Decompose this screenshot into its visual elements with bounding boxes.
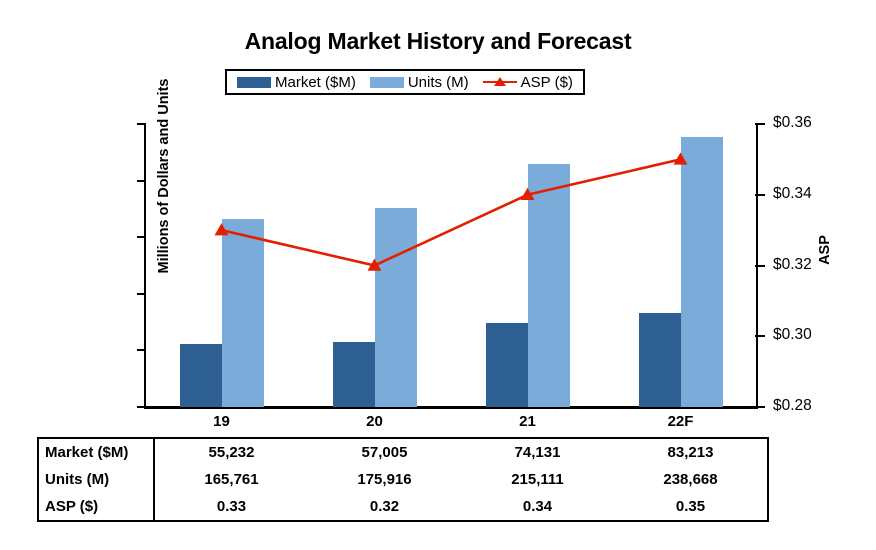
table-row: ASP ($)0.330.320.340.35	[38, 493, 768, 521]
table-row-header: Market ($M)	[38, 438, 154, 466]
right-axis-title: ASP	[817, 220, 833, 280]
right-tick	[755, 194, 765, 196]
table-cell: 238,668	[614, 466, 768, 493]
right-tick	[755, 265, 765, 267]
table-cell: 57,005	[308, 438, 461, 466]
category-label-row: 19202122F	[145, 407, 757, 437]
table-row-header: ASP ($)	[38, 493, 154, 521]
left-axis-title: Millions of Dollars and Units	[156, 61, 172, 291]
table-row: Market ($M)55,23257,00574,13183,213	[38, 438, 768, 466]
chart-legend: Market ($M) Units (M) ASP ($)	[225, 69, 585, 95]
left-tick	[137, 293, 146, 295]
bar-market-22F	[639, 313, 681, 407]
table-cell: 55,232	[154, 438, 308, 466]
legend-marker-asp	[483, 76, 517, 88]
category-label-21: 21	[451, 407, 604, 437]
legend-label-units: Units (M)	[408, 74, 469, 91]
left-tick	[137, 349, 146, 351]
table-cell: 0.35	[614, 493, 768, 521]
legend-swatch-units	[370, 77, 404, 88]
table-cell: 0.34	[461, 493, 614, 521]
legend-label-market: Market ($M)	[275, 74, 356, 91]
bar-units-22F	[681, 137, 723, 407]
table-cell: 0.32	[308, 493, 461, 521]
data-table: Market ($M)55,23257,00574,13183,213Units…	[37, 437, 769, 522]
right-tick-label: $0.28	[773, 397, 853, 415]
bar-units-20	[375, 208, 417, 407]
category-label-19: 19	[145, 407, 298, 437]
table-cell: 165,761	[154, 466, 308, 493]
table-cell: 83,213	[614, 438, 768, 466]
legend-label-asp: ASP ($)	[521, 74, 573, 91]
right-tick	[755, 335, 765, 337]
asp-line-path	[222, 159, 681, 265]
table-cell: 0.33	[154, 493, 308, 521]
chart-figure: Analog Market History and Forecast Marke…	[0, 0, 876, 550]
table-cell: 215,111	[461, 466, 614, 493]
right-tick	[755, 123, 765, 125]
right-tick-label: $0.32	[773, 256, 853, 274]
right-tick-label: $0.36	[773, 114, 853, 132]
table-cell: 175,916	[308, 466, 461, 493]
plot-area: 050,000100,000150,000200,000250,000 $0.2…	[145, 124, 757, 407]
legend-entry-asp: ASP ($)	[483, 74, 573, 91]
category-label-20: 20	[298, 407, 451, 437]
left-tick	[137, 236, 146, 238]
table-row: Units (M)165,761175,916215,111238,668	[38, 466, 768, 493]
chart-title: Analog Market History and Forecast	[0, 28, 876, 55]
bar-market-19	[180, 344, 222, 407]
table-cell: 74,131	[461, 438, 614, 466]
left-tick	[137, 123, 146, 125]
category-label-22F: 22F	[604, 407, 757, 437]
legend-entry-market: Market ($M)	[237, 74, 356, 91]
bar-units-19	[222, 219, 264, 407]
legend-swatch-market	[237, 77, 271, 88]
bar-market-20	[333, 342, 375, 407]
table-row-header: Units (M)	[38, 466, 154, 493]
right-tick-label: $0.34	[773, 185, 853, 203]
left-tick	[137, 180, 146, 182]
bar-market-21	[486, 323, 528, 407]
left-axis-line	[144, 123, 146, 408]
legend-entry-units: Units (M)	[370, 74, 469, 91]
bar-units-21	[528, 164, 570, 408]
right-tick-label: $0.30	[773, 326, 853, 344]
